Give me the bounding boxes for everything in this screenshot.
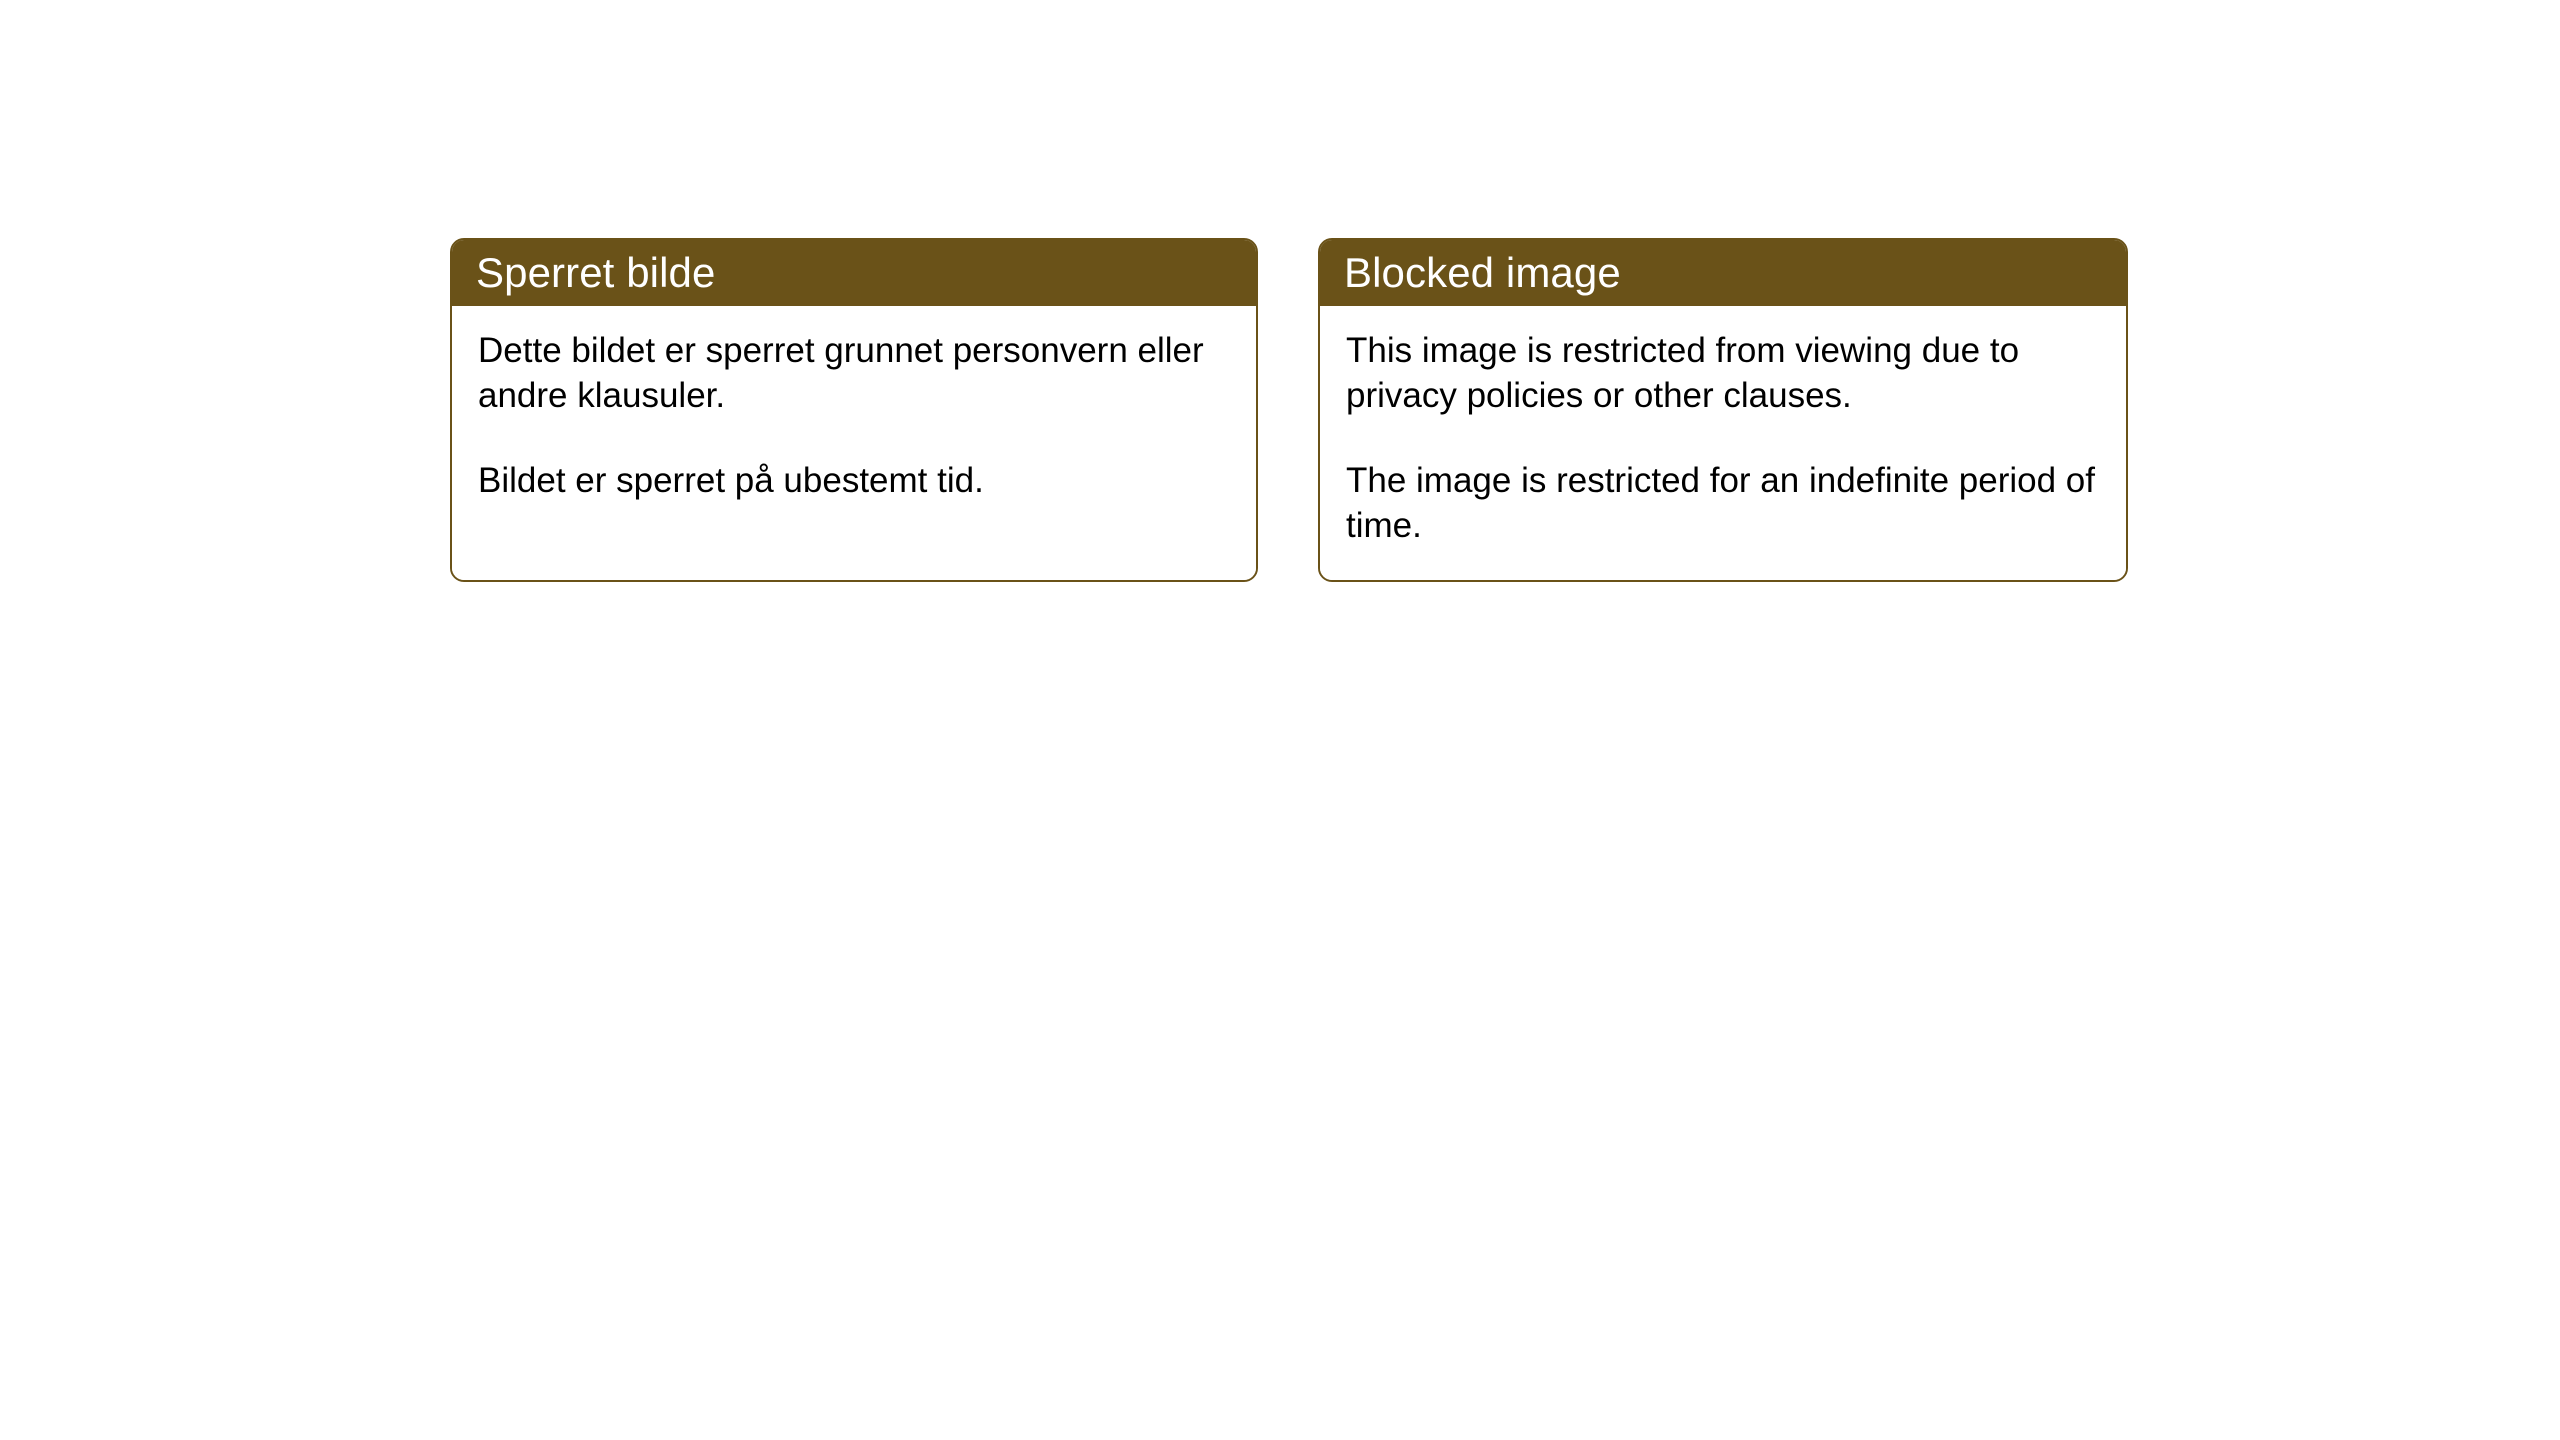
card-body-english: This image is restricted from viewing du… — [1320, 306, 2126, 580]
card-paragraph-duration-english: The image is restricted for an indefinit… — [1346, 458, 2102, 548]
card-paragraph-reason-english: This image is restricted from viewing du… — [1346, 328, 2102, 418]
card-header-english: Blocked image — [1320, 240, 2126, 306]
blocked-image-card-english: Blocked image This image is restricted f… — [1318, 238, 2128, 582]
card-title-english: Blocked image — [1344, 252, 1621, 294]
page-canvas: Sperret bilde Dette bildet er sperret gr… — [0, 0, 2560, 1440]
card-body-norwegian: Dette bildet er sperret grunnet personve… — [452, 306, 1256, 580]
card-paragraph-duration-norwegian: Bildet er sperret på ubestemt tid. — [478, 458, 1232, 503]
card-header-norwegian: Sperret bilde — [452, 240, 1256, 306]
card-title-norwegian: Sperret bilde — [476, 252, 715, 294]
card-paragraph-reason-norwegian: Dette bildet er sperret grunnet personve… — [478, 328, 1232, 418]
blocked-image-card-norwegian: Sperret bilde Dette bildet er sperret gr… — [450, 238, 1258, 582]
